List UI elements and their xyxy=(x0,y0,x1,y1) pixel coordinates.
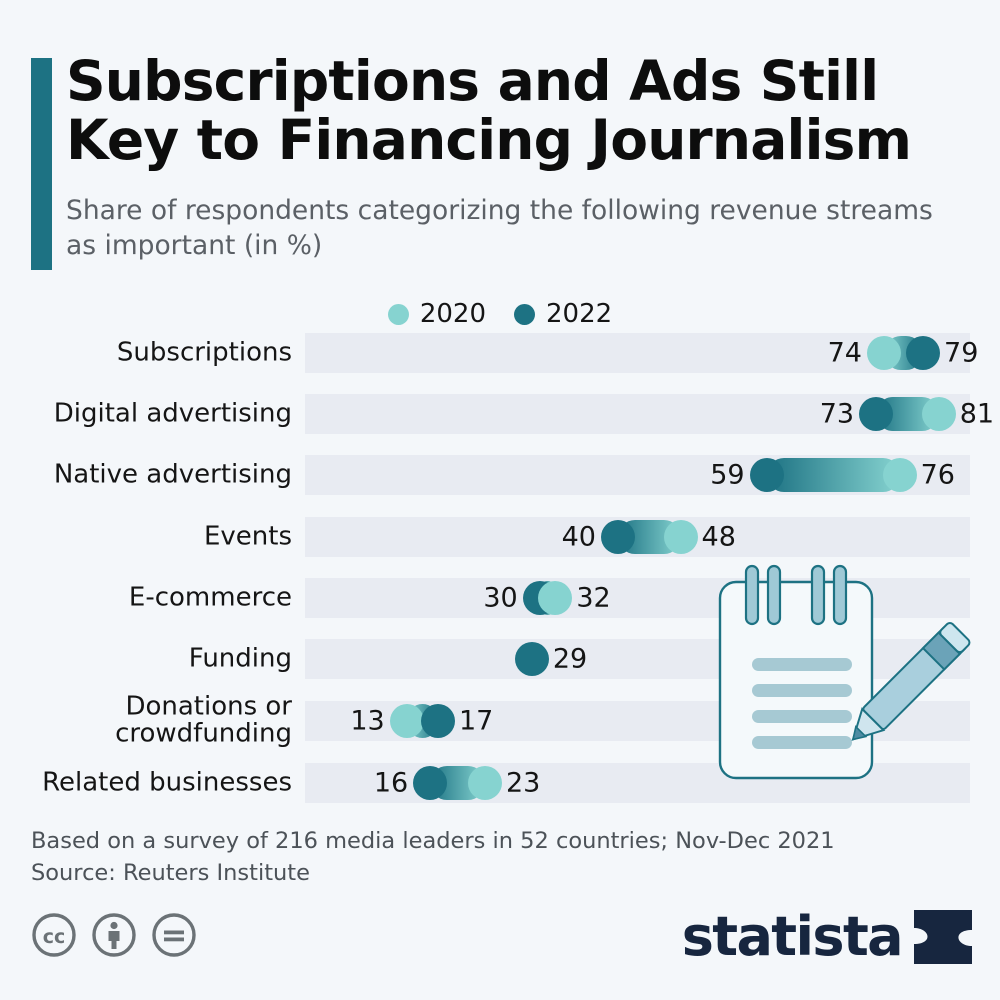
data-value-label: 73 xyxy=(820,399,854,430)
data-value-label: 40 xyxy=(562,522,596,553)
attribution-icon xyxy=(91,912,137,958)
chart-legend: 20202022 xyxy=(0,294,1000,334)
data-dot-2020 xyxy=(922,397,956,431)
data-dot-2022 xyxy=(859,397,893,431)
survey-note: Based on a survey of 216 media leaders i… xyxy=(31,826,931,858)
svg-text:cc: cc xyxy=(43,926,66,948)
statista-logo-icon xyxy=(912,908,974,966)
row-connector xyxy=(767,458,900,492)
data-value-label: 81 xyxy=(960,399,994,430)
footnotes: Based on a survey of 216 media leaders i… xyxy=(31,826,931,890)
license-icons: cc xyxy=(31,912,197,958)
data-value-label: 74 xyxy=(828,338,862,369)
row-label: Subscriptions xyxy=(12,339,292,366)
page-subtitle: Share of respondents categorizing the fo… xyxy=(66,194,956,264)
data-dot-2022 xyxy=(413,766,447,800)
data-value-label: 13 xyxy=(350,706,384,737)
chart-row: Native advertising5976 xyxy=(0,452,1000,498)
statista-brand: statista xyxy=(682,908,974,966)
data-value-label: 59 xyxy=(710,460,744,491)
data-dot-2022 xyxy=(601,520,635,554)
data-value-label: 76 xyxy=(921,460,955,491)
chart-row: Digital advertising7381 xyxy=(0,391,1000,437)
legend-label: 2022 xyxy=(546,299,612,329)
row-label: Related businesses xyxy=(12,769,292,796)
data-dot-2020 xyxy=(468,766,502,800)
data-value-label: 79 xyxy=(944,338,978,369)
data-value-label: 30 xyxy=(483,583,517,614)
chart-row: Events4048 xyxy=(0,514,1000,560)
source-note: Source: Reuters Institute xyxy=(31,858,931,890)
legend-item-2020: 2020 xyxy=(388,299,486,329)
legend-dot-2020 xyxy=(388,304,409,325)
no-derivatives-icon xyxy=(151,912,197,958)
data-dot-2022 xyxy=(421,704,455,738)
row-label: E-commerce xyxy=(12,584,292,611)
data-value-label: 29 xyxy=(553,644,587,675)
legend-item-2022: 2022 xyxy=(514,299,612,329)
legend-dot-2022 xyxy=(514,304,535,325)
header: Subscriptions and Ads Still Key to Finan… xyxy=(0,0,1000,290)
row-label: Events xyxy=(12,523,292,550)
chart-row: Subscriptions7479 xyxy=(0,330,1000,376)
page-title: Subscriptions and Ads Still Key to Finan… xyxy=(66,52,976,170)
legend-label: 2020 xyxy=(420,299,486,329)
title-accent-bar xyxy=(31,58,52,270)
brand-wordmark: statista xyxy=(682,910,902,964)
data-dot-2022 xyxy=(515,642,549,676)
data-value-label: 48 xyxy=(702,522,736,553)
row-label: Donations or crowdfunding xyxy=(12,694,292,749)
row-label: Funding xyxy=(12,645,292,672)
data-dot-2020 xyxy=(883,458,917,492)
data-value-label: 16 xyxy=(374,768,408,799)
notepad-and-pencil-illustration xyxy=(706,560,986,800)
data-dot-2022 xyxy=(906,336,940,370)
data-dot-2020 xyxy=(867,336,901,370)
data-value-label: 17 xyxy=(459,706,493,737)
data-dot-2020 xyxy=(664,520,698,554)
data-value-label: 23 xyxy=(506,768,540,799)
data-dot-2022 xyxy=(750,458,784,492)
data-value-label: 32 xyxy=(576,583,610,614)
data-dot-2020 xyxy=(538,581,572,615)
creative-commons-icon: cc xyxy=(31,912,77,958)
row-label: Native advertising xyxy=(12,461,292,488)
data-dot-2020 xyxy=(390,704,424,738)
row-label: Digital advertising xyxy=(12,400,292,427)
